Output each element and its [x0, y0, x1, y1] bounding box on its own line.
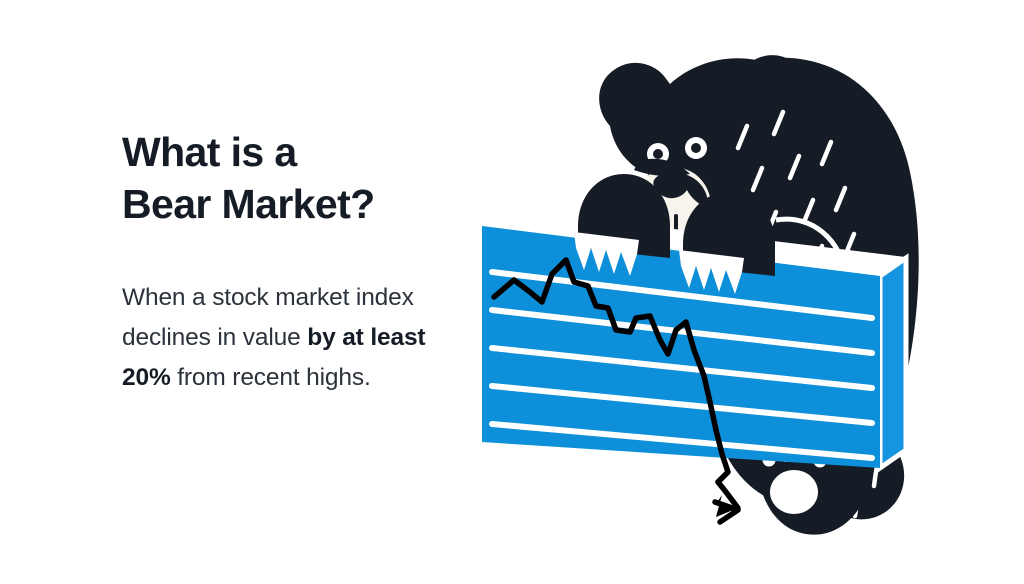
bear-foot-sole [770, 470, 818, 514]
bear-market-illustration [470, 30, 970, 550]
board-side-face [880, 258, 906, 468]
body-text-part-2: from recent highs. [171, 364, 371, 391]
bear-left-eye-pupil [653, 149, 663, 159]
page-title: What is a Bear Market? [122, 126, 452, 231]
bear-right-eye-pupil [691, 143, 701, 153]
body-description: When a stock market index declines in va… [122, 278, 432, 398]
text-block: What is a Bear Market? [122, 126, 452, 231]
infographic-canvas: What is a Bear Market? When a stock mark… [0, 0, 1024, 584]
